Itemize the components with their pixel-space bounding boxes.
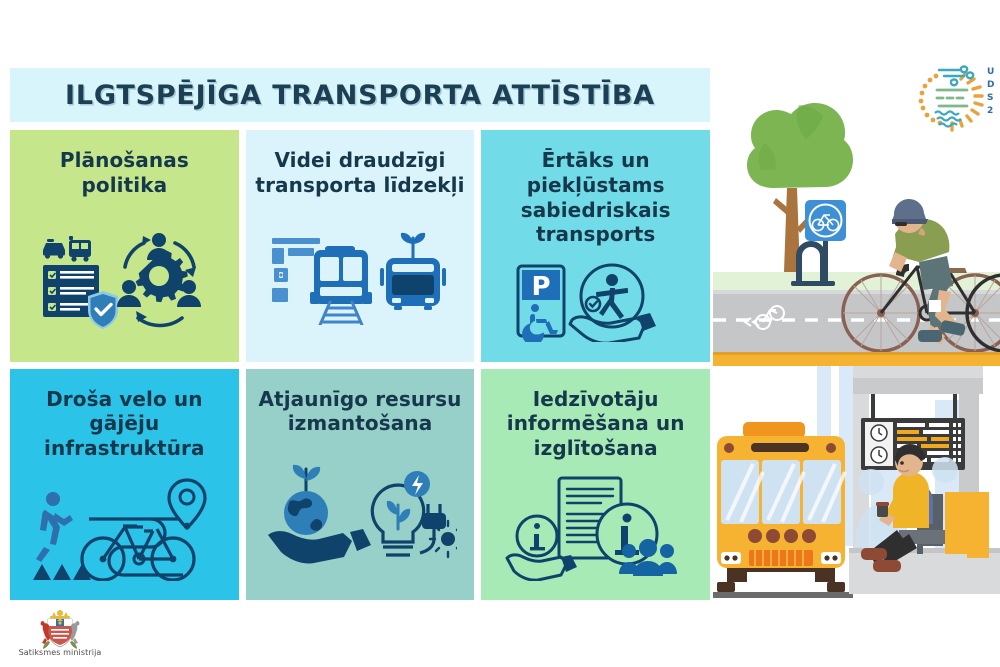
card-drosa-velo-un-gajeju-infrastruktura[interactable]: Droša velo un gājēju infrastruktūra	[10, 369, 239, 601]
card-title: Atjaunīgo resursu izmantošana	[246, 387, 475, 437]
page-title: ILGTSPĒJĪGA TRANSPORTA ATTĪSTĪBA	[65, 80, 655, 111]
card-title: Plānošanas politika	[10, 148, 239, 198]
svg-text:P: P	[532, 272, 551, 302]
satiksmes-ministrija-logo: Satiksmes ministrija	[10, 608, 140, 660]
content-grid: ILGTSPĒJĪGA TRANSPORTA ATTĪSTĪBA Plānoša…	[10, 68, 710, 600]
title-banner: ILGTSPĒJĪGA TRANSPORTA ATTĪSTĪBA	[10, 68, 710, 122]
green-vehicles-icon	[246, 198, 475, 362]
policy-planning-icon	[10, 198, 239, 362]
card-title: Iedzīvotāju informēšana un izglītošana	[481, 387, 710, 461]
public-information-icon	[481, 461, 710, 600]
yellow-tram	[713, 422, 853, 598]
cycling-walking-icon	[10, 461, 239, 600]
cards-grid: Plānošanas politika	[10, 130, 710, 600]
sustainable-mobility-logo: UDS2	[915, 58, 1000, 138]
card-title: Droša velo un gājēju infrastruktūra	[10, 387, 239, 461]
renewable-energy-icon	[246, 436, 475, 600]
brand-logo-text: UDS2	[987, 66, 995, 118]
card-title: Videi draudzīgi transporta līdzekļi	[246, 148, 475, 198]
ministry-label: Satiksmes ministrija	[10, 648, 110, 657]
tram-station-platform-scene	[713, 366, 1000, 600]
accessible-transport-icon: P	[481, 247, 710, 361]
infographic-root: ILGTSPĒJĪGA TRANSPORTA ATTĪSTĪBA Plānoša…	[0, 0, 1000, 667]
card-title: Ērtāks un piekļūstams sabiedriskais tran…	[481, 148, 710, 247]
card-videi-draudzigi-transporta-lidzekli[interactable]: Videi draudzīgi transporta līdzekļi	[246, 130, 475, 362]
card-planosanas-politika[interactable]: Plānošanas politika	[10, 130, 239, 362]
card-atjaunigo-resursu-izmantosana[interactable]: Atjaunīgo resursu izmantošana	[246, 369, 475, 601]
card-ertaks-un-pieklustams-sabiedriskais-transports[interactable]: Ērtāks un piekļūstams sabiedriskais tran…	[481, 130, 710, 362]
card-iedzivotaju-informesana-un-izglitosana[interactable]: Iedzīvotāju informēšana un izglītošana	[481, 369, 710, 601]
